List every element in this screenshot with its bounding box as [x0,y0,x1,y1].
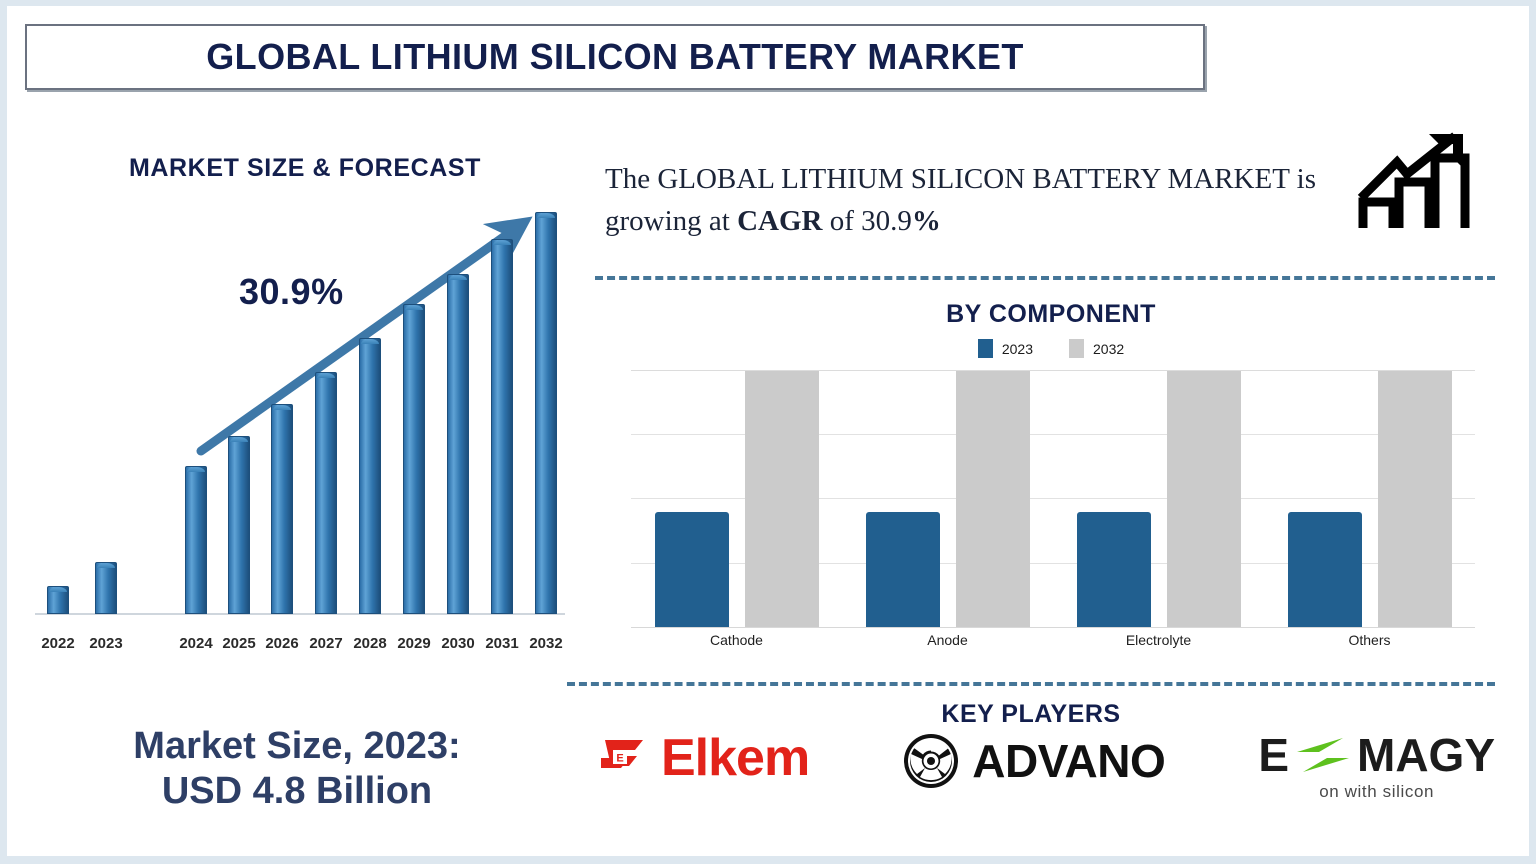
component-x-label-others: Others [1300,632,1440,648]
component-x-label-anode: Anode [878,632,1018,648]
infographic-page: GLOBAL LITHIUM SILICON BATTERY MARKET MA… [0,0,1536,864]
component-bar-anode-2023 [866,512,940,628]
logo-elkem: E Elkem [573,732,809,784]
forecast-x-label-2031: 2031 [479,635,525,652]
legend-swatch-2023 [978,339,993,358]
elkem-wordmark: Elkem [661,732,809,784]
market-size-line-1: Market Size, 2023: [47,724,547,769]
cagr-sentence-emphasis: CAGR [737,205,822,237]
forecast-x-label-2029: 2029 [391,635,437,652]
legend-swatch-2032 [1069,339,1084,358]
emagy-tagline: on with silicon [1319,782,1434,802]
divider-top [595,276,1495,280]
forecast-bar-2032 [535,212,557,614]
cagr-sentence-middle: of [822,205,861,237]
key-players-logos: E Elkem ADVANO [573,732,1495,832]
advano-wordmark: ADVANO [972,738,1165,784]
market-size-value: Market Size, 2023: USD 4.8 Billion [47,724,547,814]
divider-bottom [567,682,1495,686]
legend-label-2032: 2032 [1093,341,1124,357]
component-bar-cathode-2032 [745,370,819,628]
logo-emagy: E MAGY on with silicon [1258,732,1495,802]
cagr-sentence: The GLOBAL LITHIUM SILICON BATTERY MARKE… [605,158,1345,242]
page-title: GLOBAL LITHIUM SILICON BATTERY MARKET [206,36,1023,78]
forecast-x-label-2024: 2024 [173,635,219,652]
forecast-bar-2025 [228,436,250,614]
forecast-bar-2030 [447,274,469,614]
forecast-x-label-2023: 2023 [83,635,129,652]
component-bar-others-2023 [1288,512,1362,628]
component-bar-cathode-2023 [655,512,729,628]
forecast-bar-2023 [95,562,117,614]
emagy-letters-magy: MAGY [1357,732,1495,778]
component-bar-electrolyte-2023 [1077,512,1151,628]
forecast-bar-2027 [315,372,337,614]
forecast-x-label-2032: 2032 [523,635,569,652]
emagy-letter-e: E [1258,732,1289,778]
forecast-bar-2024 [185,466,207,614]
cagr-sentence-unit: % [912,205,941,237]
component-x-label-electrolyte: Electrolyte [1089,632,1229,648]
svg-text:E: E [616,753,623,765]
component-bar-anode-2032 [956,370,1030,628]
component-x-label-cathode: Cathode [667,632,807,648]
by-component-legend: 20232032 [607,339,1495,358]
forecast-bar-2028 [359,338,381,614]
cagr-callout: 30.9% [239,271,344,313]
by-component-baseline [631,627,1475,628]
cagr-sentence-prefix: The GLOBAL LITHIUM SILICON BATTERY MARKE… [605,163,1316,237]
forecast-x-label-2022: 2022 [35,635,81,652]
market-size-line-2: USD 4.8 Billion [47,769,547,814]
forecast-x-label-2030: 2030 [435,635,481,652]
logo-advano: ADVANO [902,732,1165,790]
legend-item-2032: 2032 [1069,339,1124,358]
emagy-wordmark: E MAGY [1258,732,1495,778]
elkem-mark-icon: E [599,732,651,784]
cagr-sentence-value: 30.9 [861,205,912,237]
forecast-bar-2029 [403,304,425,614]
forecast-x-label-2027: 2027 [303,635,349,652]
forecast-bar-2026 [271,404,293,614]
title-box: GLOBAL LITHIUM SILICON BATTERY MARKET [25,24,1205,90]
legend-item-2023: 2023 [978,339,1033,358]
forecast-bar-2022 [47,586,69,614]
advano-wheel-icon [902,732,960,790]
bar-chart-growth-icon [1355,130,1485,242]
forecast-x-label-2025: 2025 [216,635,262,652]
market-size-forecast-heading: MARKET SIZE & FORECAST [85,154,525,183]
by-component-heading: BY COMPONENT [607,300,1495,329]
forecast-x-label-2026: 2026 [259,635,305,652]
forecast-x-label-2028: 2028 [347,635,393,652]
component-bar-others-2032 [1378,370,1452,628]
emagy-bolt-icon [1293,732,1353,778]
legend-label-2023: 2023 [1002,341,1033,357]
key-players-heading: KEY PLAYERS [567,700,1495,729]
component-bar-electrolyte-2032 [1167,370,1241,628]
by-component-chart [631,370,1475,628]
forecast-bar-2031 [491,239,513,614]
